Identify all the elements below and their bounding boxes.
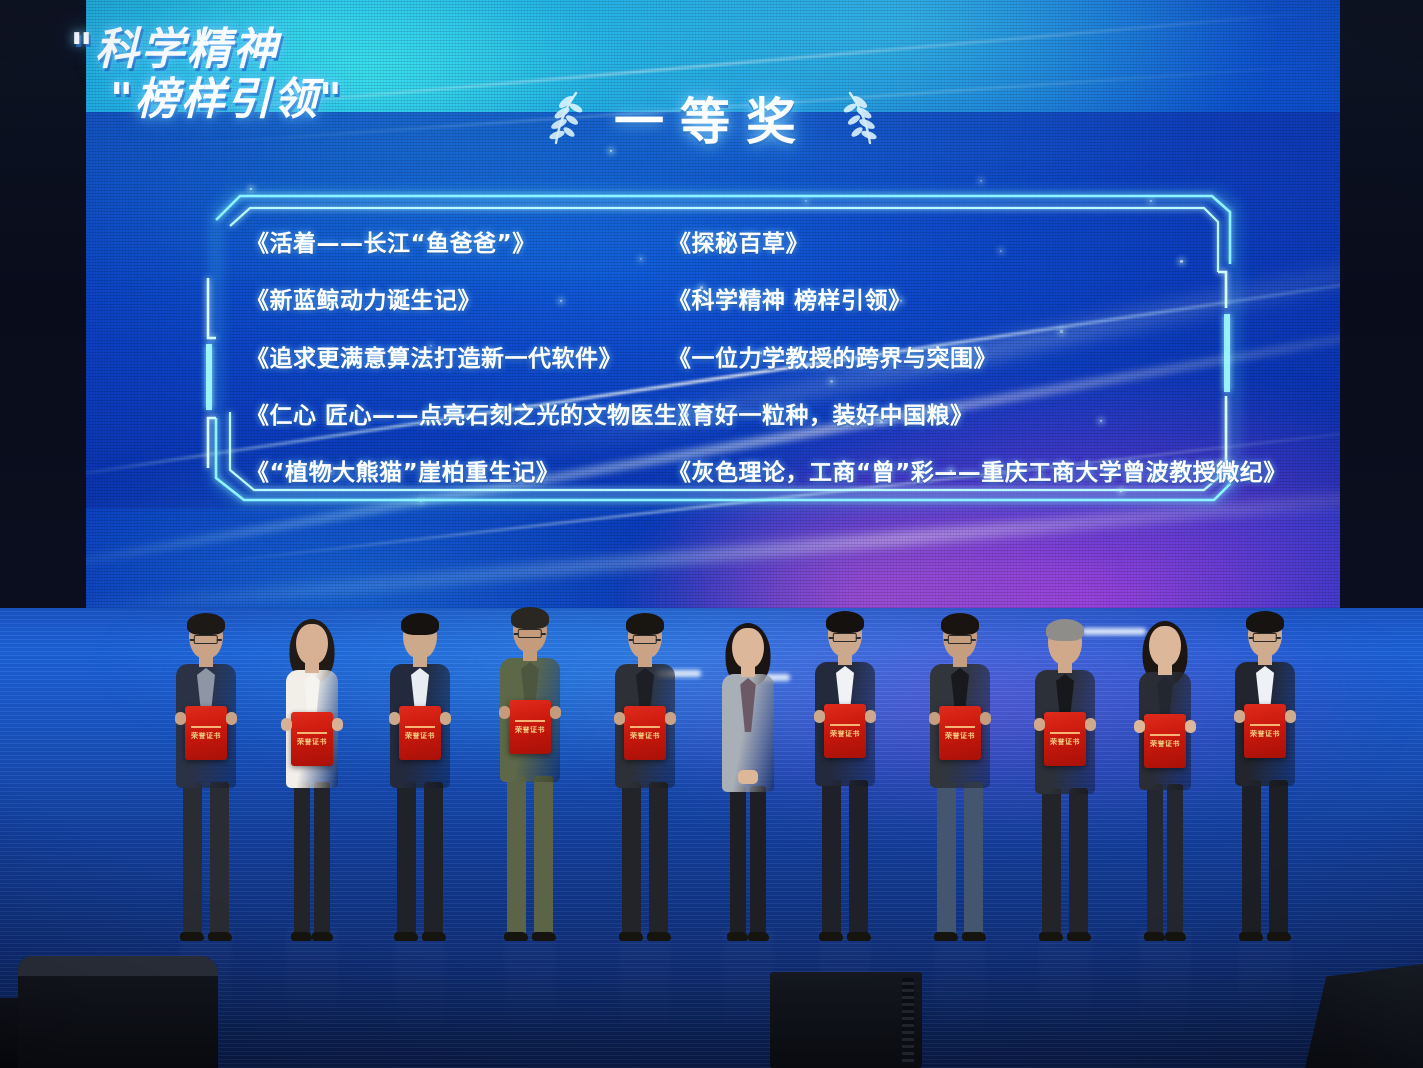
hand-right: [226, 712, 237, 725]
shoe-right: [312, 932, 333, 941]
leg-right: [750, 786, 766, 936]
legs: [286, 782, 338, 936]
winner-entry-left-5: 《“植物大熊猫”崖柏重生记》: [246, 461, 701, 486]
recipient-7: 荣誉证书: [809, 604, 881, 936]
person-reflection: [1239, 928, 1291, 1048]
certificate-top-rule: [1050, 732, 1079, 734]
leg-left: [937, 782, 956, 936]
leg-left: [294, 782, 310, 936]
hand-left: [1034, 718, 1045, 731]
winner-column-right: 《探秘百草》《科学精神 榜样引领》《一位力学教授的跨界与突围》《育好一粒种，装好…: [668, 232, 1287, 518]
honor-certificate: 荣誉证书: [824, 704, 866, 758]
certificate-label: 荣誉证书: [297, 738, 327, 746]
certificate-top-rule: [1150, 734, 1179, 736]
leg-right: [649, 782, 668, 936]
shoe-left: [1239, 932, 1263, 941]
legs: [722, 786, 774, 936]
head: [296, 624, 328, 664]
winner-entry-right-3: 《一位力学教授的跨界与突围》: [668, 347, 1287, 372]
person-reflection: [1039, 928, 1091, 1048]
hand-right: [980, 712, 991, 725]
leg-left: [1242, 780, 1261, 936]
leg-left: [730, 786, 746, 936]
legs: [815, 780, 875, 936]
hand-right: [1085, 718, 1096, 731]
shoe-left: [727, 932, 748, 941]
clasped-hands: [738, 770, 758, 784]
shoe-left: [504, 932, 528, 941]
hand-right: [865, 710, 876, 723]
legs: [500, 776, 560, 936]
glasses-icon: [948, 635, 972, 644]
winner-entry-left-2: 《新蓝鲸动力诞生记》: [246, 289, 701, 314]
recipient-1: 荣誉证书: [170, 606, 242, 936]
leg-right: [210, 782, 229, 936]
winner-entry-right-5: 《灰色理论，工商“曾”彩——重庆工商大学曾波教授微纪》: [668, 461, 1287, 486]
hand-left: [1134, 720, 1145, 733]
hair: [941, 613, 979, 635]
recipient-5: 荣誉证书: [609, 606, 681, 936]
hand-right: [332, 718, 343, 731]
recipient-4: 荣誉证书: [494, 600, 566, 936]
certificate-label: 荣誉证书: [515, 726, 545, 734]
legs: [615, 782, 675, 936]
head: [1149, 626, 1181, 666]
stage-monitor-left: [18, 956, 218, 1068]
winner-entry-right-1: 《探秘百草》: [668, 232, 1287, 257]
hand-left: [175, 712, 186, 725]
shoe-left: [394, 932, 418, 941]
glasses-icon: [194, 635, 218, 644]
certificate-label: 荣誉证书: [1250, 730, 1280, 738]
leg-left: [397, 782, 416, 936]
honor-certificate: 荣誉证书: [624, 706, 666, 760]
winner-list: 《活着——长江“鱼爸爸”》《新蓝鲸动力诞生记》《追求更满意算法打造新一代软件》《…: [200, 168, 1260, 546]
speaker-grill: [902, 978, 914, 1062]
hand-left: [281, 718, 292, 731]
hand-right: [1185, 720, 1196, 733]
hand-right: [550, 706, 561, 719]
leg-right: [849, 780, 868, 936]
recipient-2: 荣誉证书: [281, 614, 343, 936]
honor-certificate: 荣誉证书: [399, 706, 441, 760]
honor-certificate: 荣誉证书: [509, 700, 551, 754]
head: [732, 628, 764, 668]
certificate-top-rule: [405, 726, 434, 728]
recipient-3: 荣誉证书: [384, 606, 456, 936]
hair: [826, 611, 864, 633]
presenter-6: [717, 618, 779, 936]
leg-left: [822, 780, 841, 936]
shoe-right: [1165, 932, 1186, 941]
certificate-label: 荣誉证书: [630, 732, 660, 740]
legs: [390, 782, 450, 936]
legs: [1139, 784, 1191, 936]
winner-column-left: 《活着——长江“鱼爸爸”》《新蓝鲸动力诞生记》《追求更满意算法打造新一代软件》《…: [246, 232, 701, 518]
person-reflection: [619, 928, 671, 1048]
certificate-label: 荣誉证书: [405, 732, 435, 740]
glasses-icon: [518, 629, 542, 638]
leg-right: [424, 782, 443, 936]
person-reflection: [934, 928, 986, 1048]
hair: [187, 613, 225, 635]
shoe-left: [1039, 932, 1063, 941]
certificate-label: 荣誉证书: [1150, 740, 1180, 748]
shoe-right: [1267, 932, 1291, 941]
laurel-right-icon: [838, 89, 880, 147]
certificate-top-rule: [515, 720, 544, 722]
certificate-label: 荣誉证书: [945, 732, 975, 740]
recipient-8: 荣誉证书: [924, 606, 996, 936]
certificate-top-rule: [945, 726, 974, 728]
certificate-label: 荣誉证书: [1050, 738, 1080, 746]
hand-left: [1234, 710, 1245, 723]
person-reflection: [394, 928, 446, 1048]
person-reflection: [1139, 928, 1191, 1048]
honor-certificate: 荣誉证书: [185, 706, 227, 760]
certificate-label: 荣誉证书: [830, 730, 860, 738]
stage-monitor-center: [770, 972, 922, 1068]
honor-certificate: 荣誉证书: [1044, 712, 1086, 766]
legs: [930, 782, 990, 936]
leg-right: [964, 782, 983, 936]
person-reflection: [286, 928, 338, 1048]
leg-right: [1167, 784, 1183, 936]
laurel-left-icon: [546, 89, 588, 147]
winner-entry-left-1: 《活着——长江“鱼爸爸”》: [246, 232, 701, 257]
glasses-icon: [633, 635, 657, 644]
leg-right: [314, 782, 330, 936]
shoe-left: [1144, 932, 1165, 941]
leg-right: [1069, 788, 1088, 936]
leg-left: [1147, 784, 1163, 936]
person-reflection: [722, 928, 774, 1048]
shoe-left: [619, 932, 643, 941]
leg-left: [1042, 788, 1061, 936]
hand-left: [814, 710, 825, 723]
certificate-top-rule: [830, 724, 859, 726]
shoe-left: [180, 932, 204, 941]
glasses-icon: [1253, 633, 1277, 642]
hair: [401, 613, 439, 635]
hand-right: [440, 712, 451, 725]
leg-left: [622, 782, 641, 936]
certificate-top-rule: [1250, 724, 1279, 726]
stage-photo: "科学精神 "榜样引领" 一等奖: [0, 0, 1423, 1068]
shoe-right: [748, 932, 769, 941]
award-title-block: 一等奖: [86, 82, 1340, 154]
shoe-left: [934, 932, 958, 941]
hair: [626, 613, 664, 635]
page-title: 一等奖: [614, 82, 812, 154]
shoe-right: [847, 932, 871, 941]
certificate-label: 荣誉证书: [191, 732, 221, 740]
shoe-left: [819, 932, 843, 941]
certificate-top-rule: [191, 726, 220, 728]
leg-left: [507, 776, 526, 936]
honor-certificate: 荣誉证书: [1144, 714, 1186, 768]
logo-line-1: "科学精神: [70, 28, 344, 72]
glasses-icon: [833, 633, 857, 642]
hand-right: [1285, 710, 1296, 723]
hair: [511, 607, 549, 629]
honor-certificate: 荣誉证书: [291, 712, 333, 766]
honor-certificate: 荣誉证书: [1244, 704, 1286, 758]
shoe-right: [208, 932, 232, 941]
leg-right: [1269, 780, 1288, 936]
recipient-9: 荣誉证书: [1029, 612, 1101, 936]
legs: [1035, 788, 1095, 936]
shoe-right: [532, 932, 556, 941]
person-reflection: [504, 928, 556, 1048]
winner-entry-left-3: 《追求更满意算法打造新一代软件》: [246, 347, 701, 372]
award-recipients-row: 荣誉证书荣誉证书荣誉证书荣誉证书荣誉证书荣誉证书荣誉证书荣誉证书荣誉证书荣誉证书: [0, 588, 1423, 936]
hand-left: [499, 706, 510, 719]
certificate-top-rule: [297, 732, 326, 734]
shoe-right: [962, 932, 986, 941]
shoe-left: [291, 932, 312, 941]
legs: [176, 782, 236, 936]
leg-right: [534, 776, 553, 936]
hand-left: [929, 712, 940, 725]
recipient-10: 荣誉证书: [1134, 616, 1196, 936]
hair: [1246, 611, 1284, 633]
shoe-right: [1067, 932, 1091, 941]
monitor-lip: [18, 956, 218, 976]
hand-left: [389, 712, 400, 725]
leg-left: [183, 782, 202, 936]
hair: [1046, 619, 1084, 641]
hand-right: [665, 712, 676, 725]
winner-entry-right-2: 《科学精神 榜样引领》: [668, 289, 1287, 314]
certificate-top-rule: [630, 726, 659, 728]
hand-left: [614, 712, 625, 725]
shoe-right: [422, 932, 446, 941]
winner-entry-right-4: 《育好一粒种，装好中国粮》: [668, 404, 1287, 429]
honor-certificate: 荣誉证书: [939, 706, 981, 760]
winner-entry-left-4: 《仁心 匠心——点亮石刻之光的文物医生》: [246, 404, 701, 429]
recipient-11: 荣誉证书: [1229, 604, 1301, 936]
legs: [1235, 780, 1295, 936]
shoe-right: [647, 932, 671, 941]
